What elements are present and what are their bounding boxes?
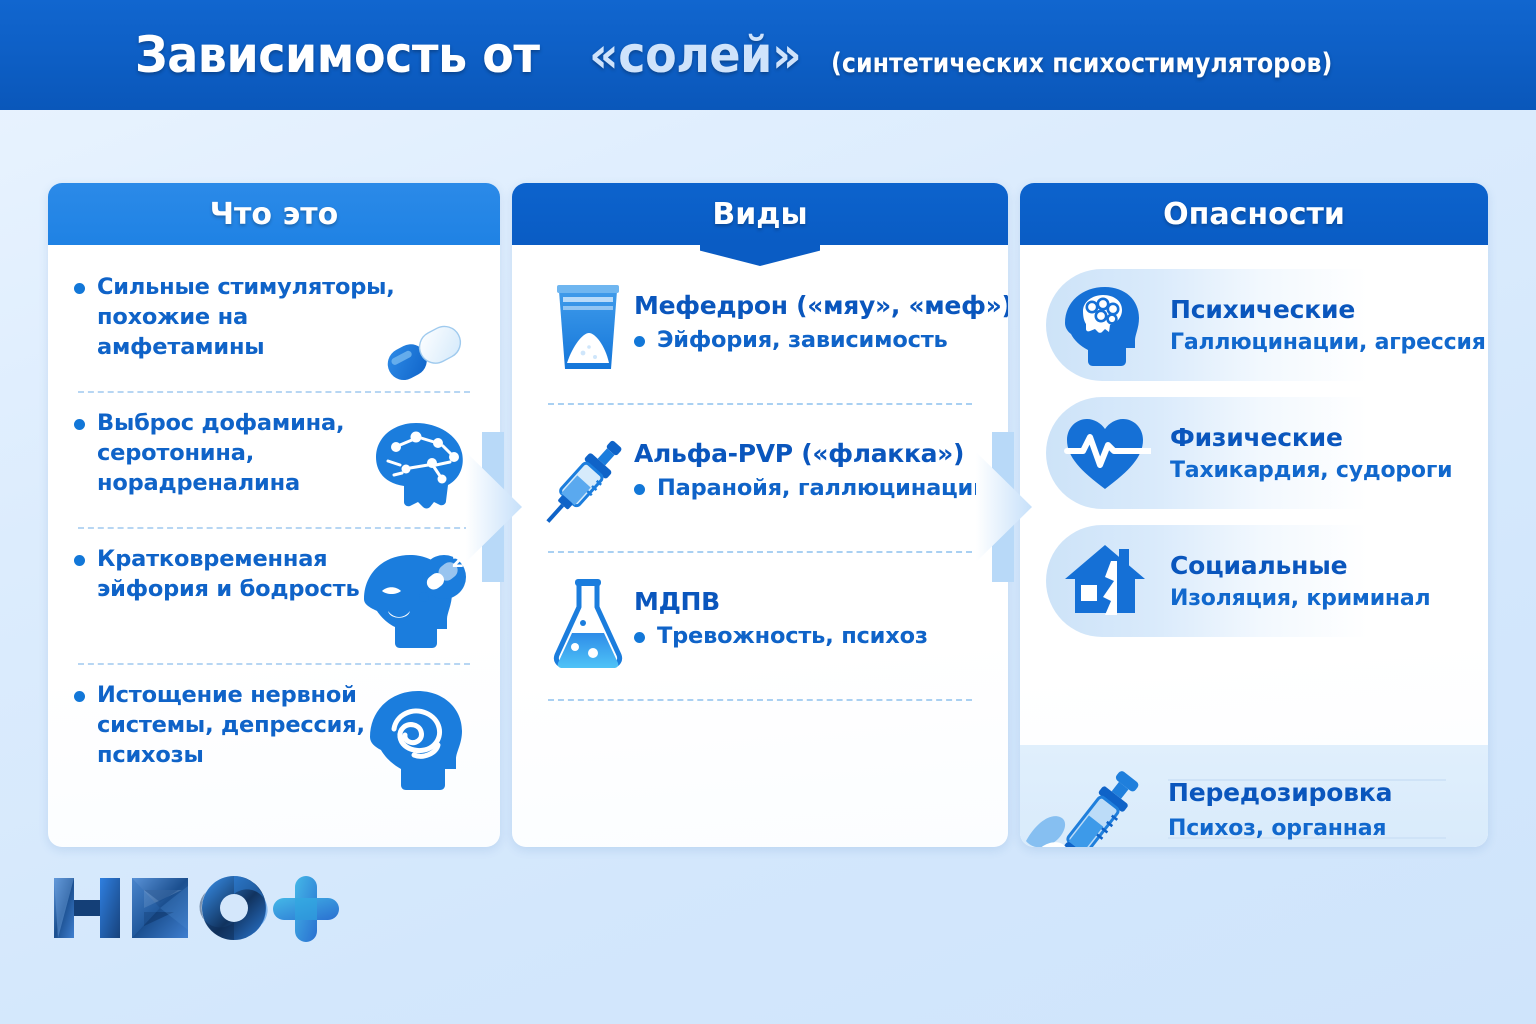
broken-house-icon	[1046, 535, 1164, 627]
item-divider	[78, 663, 470, 665]
danger-description: Изоляция, криминал	[1170, 586, 1430, 611]
type-title: Мефедрон («мяу», «меф»)	[634, 291, 1008, 320]
list-item: Сильные стимуляторы, похожие на амфетами…	[74, 273, 474, 377]
bullet-dot-icon	[74, 691, 85, 702]
type-effect-plain: Паранойя,	[657, 475, 798, 501]
type-effects: Эйфория, зависимость	[634, 327, 1008, 353]
bullet-dot-icon	[74, 419, 85, 430]
logo-letter-e	[132, 878, 188, 938]
type-name: МДПВ	[634, 587, 720, 616]
title-main-text: Зависимость от	[135, 26, 540, 84]
bullet-dot-icon	[634, 336, 645, 347]
type-effect-plain: Эйфория, зависимость	[657, 327, 948, 353]
type-effects: Паранойя, галлюцинации	[634, 475, 989, 501]
column-header-label: Опасности	[1163, 197, 1345, 232]
column-header-what-is-it: Что это	[48, 183, 500, 245]
type-effects: Тревожность, психоз	[634, 623, 928, 649]
item-divider	[78, 527, 470, 529]
overdose-title: Передозировка	[1168, 778, 1392, 807]
type-effect-bold: психоз	[841, 623, 928, 649]
title-quoted-text: «солей»	[589, 26, 801, 84]
logo-letter-n	[54, 878, 120, 938]
list-item-line2: эйфория и бодрость	[97, 575, 360, 605]
list-item-line1: Сильные стимуляторы,	[97, 274, 395, 300]
type-effect-plain: Тревожность,	[657, 623, 841, 649]
column-what-is-it: Что это Сильные стимуляторы, похожие на …	[48, 183, 500, 847]
logo-letter-o	[199, 876, 267, 940]
type-alias: («флакка»)	[801, 439, 964, 468]
danger-title: Психические	[1170, 295, 1486, 324]
list-item: МДПВ Тревожность, психоз	[542, 571, 978, 683]
column-dangers: Опасности Психические Галлюцинации, а	[1020, 183, 1488, 847]
column-types: Виды	[512, 183, 1008, 847]
list-item: Выброс дофамина, серотонина, норадренали…	[74, 409, 474, 513]
item-divider	[548, 403, 972, 405]
list-item: Социальные Изоляция, криминал	[1020, 517, 1488, 645]
column-body-dangers: Психические Галлюцинации, агрессия Физич…	[1020, 245, 1488, 745]
type-title: Альфа-PVP («флакка»)	[634, 439, 989, 468]
list-item-line2: серотонина, норадреналина	[97, 439, 417, 499]
column-header-types: Виды	[512, 183, 1008, 245]
list-item-line1: Истощение нервной	[97, 682, 357, 708]
list-item-line1-rich: Выброс дофамина,	[97, 410, 344, 436]
type-alias: («мяу», «меф»)	[796, 291, 1008, 320]
danger-description: Тахикардия, судороги	[1170, 458, 1452, 483]
danger-description: Галлюцинации, агрессия	[1170, 330, 1486, 355]
item-divider	[548, 699, 972, 701]
list-item: Истощение нервной системы, депрессия, пс…	[74, 681, 474, 785]
type-name: Альфа-PVP	[634, 439, 793, 468]
bullet-dot-icon	[634, 484, 645, 495]
column-header-label: Что это	[210, 197, 338, 232]
list-item-line2: системы, депрессия, психозы	[97, 711, 417, 771]
item-divider	[548, 551, 972, 553]
danger-title: Социальные	[1170, 551, 1430, 580]
item-divider	[78, 391, 470, 393]
column-body-types: Мефедрон («мяу», «меф») Эйфория, зависим…	[512, 245, 1008, 701]
list-item: Психические Галлюцинации, агрессия	[1020, 261, 1488, 389]
list-item: Мефедрон («мяу», «меф») Эйфория, зависим…	[542, 275, 978, 387]
type-title: МДПВ	[634, 587, 928, 616]
bullet-dot-icon	[74, 283, 85, 294]
title-subtitle-text: (синтетических психостимуляторов)	[831, 48, 1332, 79]
bullet-dot-icon	[74, 555, 85, 566]
overdose-desc-line2: недостаточность	[1168, 845, 1382, 848]
flask-icon	[542, 571, 634, 675]
list-item-line2: похожие на амфетамины	[97, 303, 417, 363]
danger-title: Физические	[1170, 423, 1452, 452]
logo-plus-sign	[273, 876, 339, 942]
list-item: Кратковременная эйфория и бодрость z	[74, 545, 474, 649]
type-name: Мефедрон	[634, 291, 788, 320]
head-brain-icon	[1046, 279, 1164, 371]
type-effect-bold: галлюцинации	[798, 475, 989, 501]
page-title: Зависимость от «солей» (синтетических пс…	[135, 26, 1401, 84]
list-item: Альфа-PVP («флакка») Паранойя, галлюцина…	[542, 423, 978, 535]
overdose-desc-line1: Психоз, органная	[1168, 816, 1386, 841]
neo-plus-logo[interactable]	[48, 868, 348, 956]
list-item: Физические Тахикардия, судороги	[1020, 389, 1488, 517]
column-header-label: Виды	[712, 197, 807, 232]
column-header-dangers: Опасности	[1020, 183, 1488, 245]
list-item-emphasis: дофамина	[202, 410, 336, 436]
overdose-icon-group	[1020, 745, 1168, 847]
column-body-what-is-it: Сильные стимуляторы, похожие на амфетами…	[48, 245, 500, 785]
page-header-bar: Зависимость от «солей» (синтетических пс…	[0, 0, 1536, 110]
heart-pulse-icon	[1046, 407, 1164, 499]
overdose-description: Психоз, органная недостаточность	[1168, 815, 1392, 847]
syringe-icon	[542, 423, 634, 527]
bullet-dot-icon	[634, 632, 645, 643]
powder-bag-icon	[542, 275, 634, 379]
overdose-section: Передозировка Психоз, органная недостато…	[1020, 745, 1488, 847]
list-item-line1: Кратковременная	[97, 546, 327, 572]
